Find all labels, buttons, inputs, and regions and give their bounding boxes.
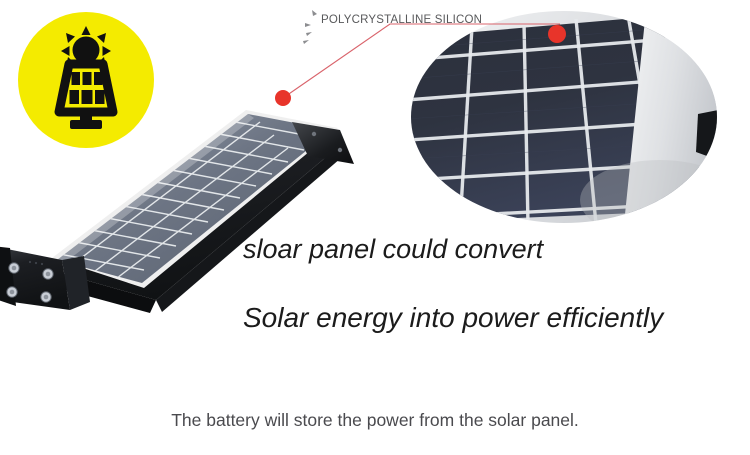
product-feature-image: POLYCRYSTALLINE SILICON sloar panel coul… — [0, 0, 750, 455]
sparkle-burst-icon — [303, 10, 317, 44]
panel-closeup-ellipse — [410, 10, 718, 224]
solar-street-light-product — [0, 78, 392, 318]
solar-street-light-photo — [0, 78, 392, 318]
headline-line-2: Solar energy into power efficiently — [243, 302, 663, 334]
headline-line-1: sloar panel could convert — [243, 234, 543, 265]
panel-detail-magnifier — [410, 10, 718, 224]
bottom-caption: The battery will store the power from th… — [0, 410, 750, 431]
callout-label: POLYCRYSTALLINE SILICON — [321, 14, 482, 26]
